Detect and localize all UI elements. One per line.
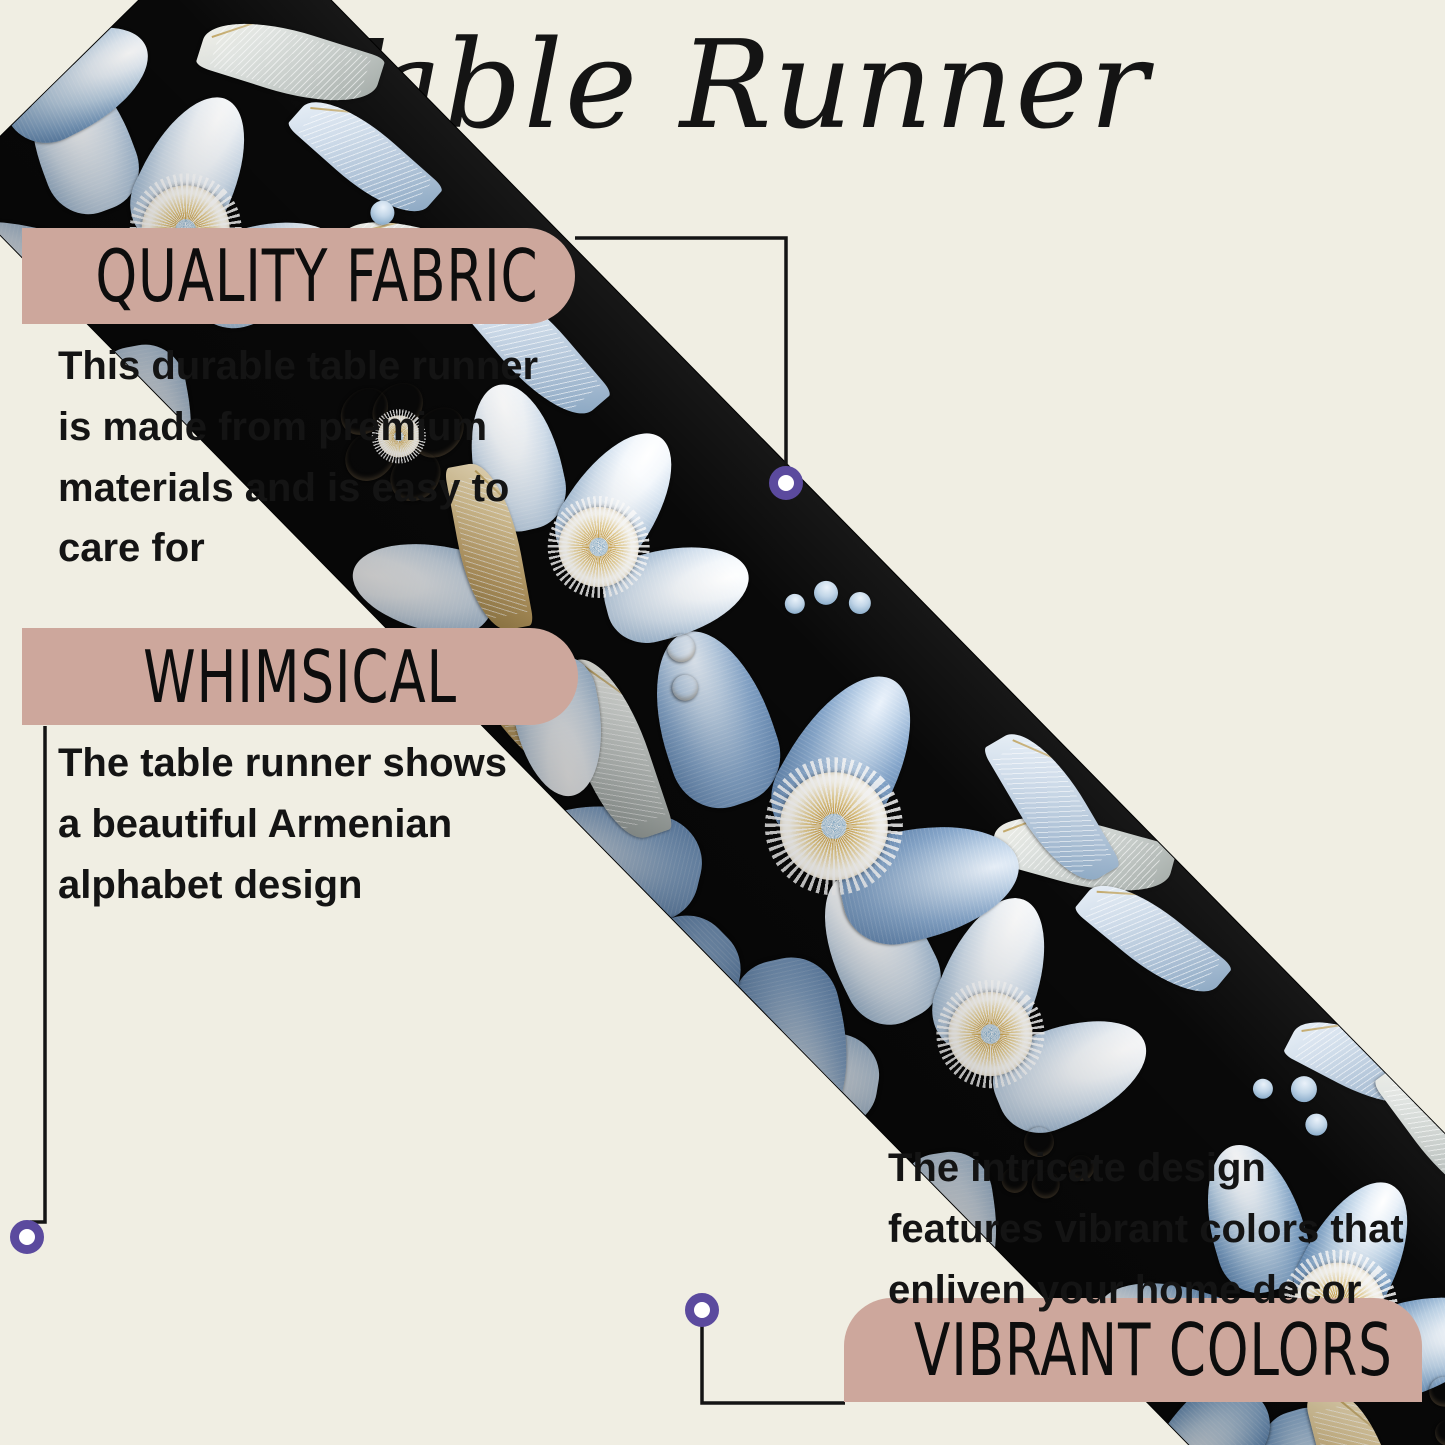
- callout-dot-whimsical[interactable]: [10, 1220, 44, 1254]
- callout-dot-quality[interactable]: [769, 466, 803, 500]
- callout-body-whimsical: The table runner shows a beautiful Armen…: [58, 733, 558, 915]
- connector-line-quality: [575, 238, 786, 483]
- infographic-canvas: Table Runner: [0, 0, 1445, 1445]
- connector-line-whimsical: [30, 726, 45, 1222]
- callout-label-quality-fabric: QUALITY FABRIC: [95, 240, 527, 312]
- callout-body-vibrant-colors: The intricate design features vibrant co…: [888, 1138, 1408, 1320]
- callout-body-quality-fabric: This durable table runner is made from p…: [58, 336, 578, 579]
- connector-line-vibrant: [702, 1326, 845, 1403]
- callout-label-whimsical: WHIMSICAL: [92, 641, 509, 713]
- callout-badge-quality-fabric: QUALITY FABRIC: [22, 228, 575, 324]
- callout-dot-vibrant[interactable]: [685, 1293, 719, 1327]
- callout-label-vibrant-colors: VIBRANT COLORS: [914, 1314, 1352, 1386]
- callout-badge-whimsical: WHIMSICAL: [22, 628, 578, 725]
